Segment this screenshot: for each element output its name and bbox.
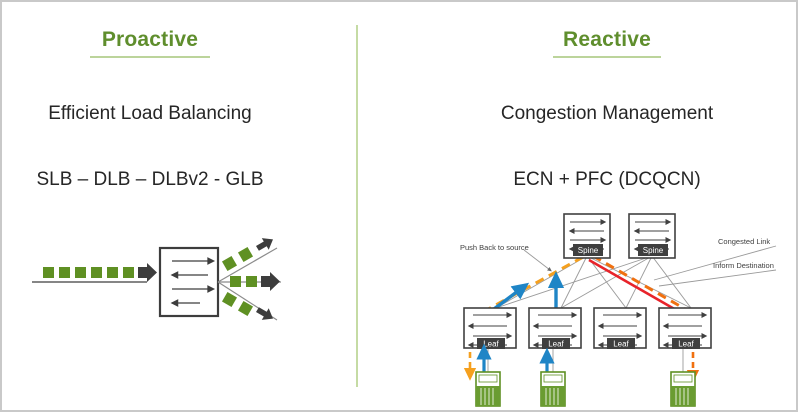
left-title-underline <box>90 56 210 58</box>
load-balancing-diagram <box>32 234 292 354</box>
leaf-switch-4[interactable]: Leaf <box>659 308 711 349</box>
inform-destination-annotation-label: Inform Destination <box>713 261 774 270</box>
ingress-arrow-icon <box>138 263 157 282</box>
server-3-drive-bay <box>671 386 695 406</box>
egress-arrow-up-icon <box>256 238 273 251</box>
server-1-bezel <box>479 375 497 382</box>
push-back-leader <box>524 250 550 270</box>
leaf-switch-2[interactable]: Leaf <box>529 308 581 349</box>
spine-switch-1[interactable]: Spine <box>564 214 610 258</box>
vertical-divider <box>356 25 358 387</box>
left-column-title: Proactive <box>50 28 250 52</box>
inform-destination-leader <box>659 270 776 286</box>
server-3[interactable] <box>671 372 695 406</box>
leaf-switch-3[interactable]: Leaf <box>594 308 646 349</box>
leaf-switch-1-label: Leaf <box>483 340 499 349</box>
congested-link-annotation-label: Congested Link <box>718 237 770 246</box>
left-column-subtitle: Efficient Load Balancing <box>20 103 280 125</box>
slide-canvas: Proactive Efficient Load Balancing SLB –… <box>0 0 798 412</box>
egress-arrow-down-icon <box>256 307 273 320</box>
leaf-switch-3-label: Leaf <box>613 340 629 349</box>
left-column-detail: SLB – DLB – DLBv2 - GLB <box>10 169 290 191</box>
leaf-switch-1[interactable]: Leaf <box>464 308 516 349</box>
ingress-packet-train <box>43 267 134 278</box>
server-1-drive-bay <box>476 386 500 406</box>
leaf-switch-4-label: Leaf <box>678 340 694 349</box>
egress-arrow-right-icon <box>261 272 280 291</box>
server-3-bezel <box>674 375 692 382</box>
dcqcn-topology-diagram: Spine Spine <box>446 200 786 408</box>
right-column-title: Reactive <box>507 28 707 52</box>
push-back-annotation-label: Push Back to source <box>460 243 529 252</box>
right-column-detail: ECN + PFC (DCQCN) <box>467 169 747 191</box>
right-column-subtitle: Congestion Management <box>467 103 747 125</box>
spine-switch-2-label: Spine <box>643 246 664 255</box>
server-2-drive-bay <box>541 386 565 406</box>
leaf-switch-2-label: Leaf <box>548 340 564 349</box>
leaf-server-links <box>488 345 683 372</box>
server-2-bezel <box>544 375 562 382</box>
egress-branch-down <box>222 292 273 320</box>
right-title-underline <box>553 56 661 58</box>
server-2[interactable] <box>541 372 565 406</box>
egress-branch-right <box>230 272 280 291</box>
server-1[interactable] <box>476 372 500 406</box>
spine-switch-1-label: Spine <box>578 246 599 255</box>
spine-switch-2[interactable]: Spine <box>629 214 675 258</box>
